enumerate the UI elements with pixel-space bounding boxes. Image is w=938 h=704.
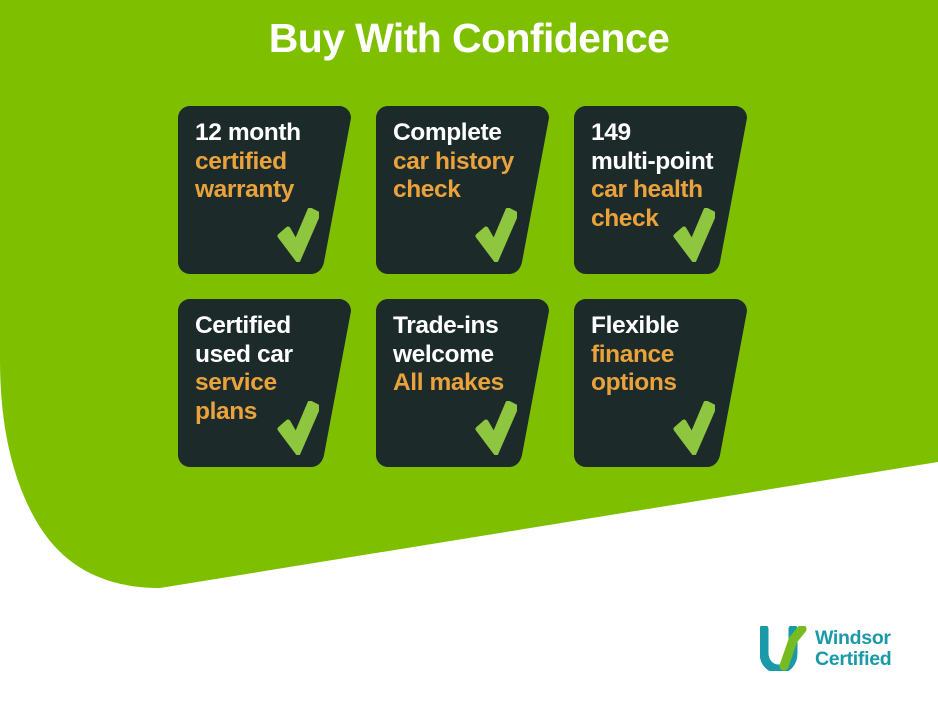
feature-card-multi-point-health-check[interactable]: 149 multi-point car health check <box>574 106 747 274</box>
card-line-primary: used car <box>195 341 325 370</box>
card-text: Flexible finance options <box>591 312 721 398</box>
card-line-accent: service <box>195 369 325 398</box>
card-line-accent: All makes <box>393 369 523 398</box>
card-text: 12 month certified warranty <box>195 119 325 205</box>
card-line-primary: welcome <box>393 341 523 370</box>
card-line-primary: Flexible <box>591 312 721 341</box>
check-icon <box>475 208 517 262</box>
feature-card-grid: 12 month certified warranty Complete car… <box>178 106 748 492</box>
card-text: Complete car history check <box>393 119 523 205</box>
feature-card-certified-warranty[interactable]: 12 month certified warranty <box>178 106 351 274</box>
feature-card-row-2: Certified used car service plans Trade-i… <box>178 299 748 467</box>
check-icon <box>673 208 715 262</box>
card-line-primary: 149 <box>591 119 721 148</box>
poster-canvas: Buy With Confidence 12 month certified w… <box>0 0 938 704</box>
card-line-primary: Complete <box>393 119 523 148</box>
card-line-accent: options <box>591 369 721 398</box>
card-text: Trade-ins welcome All makes <box>393 312 523 398</box>
feature-card-car-history-check[interactable]: Complete car history check <box>376 106 549 274</box>
card-line-accent: car history <box>393 148 523 177</box>
card-line-accent: finance <box>591 341 721 370</box>
card-line-primary: multi-point <box>591 148 721 177</box>
windsor-w-icon <box>760 626 807 671</box>
logo-wordmark: Windsor Certified <box>815 628 891 669</box>
page-title: Buy With Confidence <box>0 16 938 61</box>
feature-card-service-plans[interactable]: Certified used car service plans <box>178 299 351 467</box>
feature-card-trade-ins[interactable]: Trade-ins welcome All makes <box>376 299 549 467</box>
windsor-certified-logo[interactable]: Windsor Certified <box>760 626 891 671</box>
check-icon <box>277 208 319 262</box>
logo-line-2: Certified <box>815 649 891 670</box>
card-line-primary: 12 month <box>195 119 325 148</box>
check-icon <box>475 401 517 455</box>
card-line-primary: Certified <box>195 312 325 341</box>
feature-card-flexible-finance[interactable]: Flexible finance options <box>574 299 747 467</box>
card-line-accent: warranty <box>195 176 325 205</box>
card-line-accent: certified <box>195 148 325 177</box>
check-icon <box>673 401 715 455</box>
card-line-accent: car health <box>591 176 721 205</box>
feature-card-row-1: 12 month certified warranty Complete car… <box>178 106 748 274</box>
card-line-primary: Trade-ins <box>393 312 523 341</box>
check-icon <box>277 401 319 455</box>
logo-line-1: Windsor <box>815 628 891 649</box>
card-line-accent: check <box>393 176 523 205</box>
